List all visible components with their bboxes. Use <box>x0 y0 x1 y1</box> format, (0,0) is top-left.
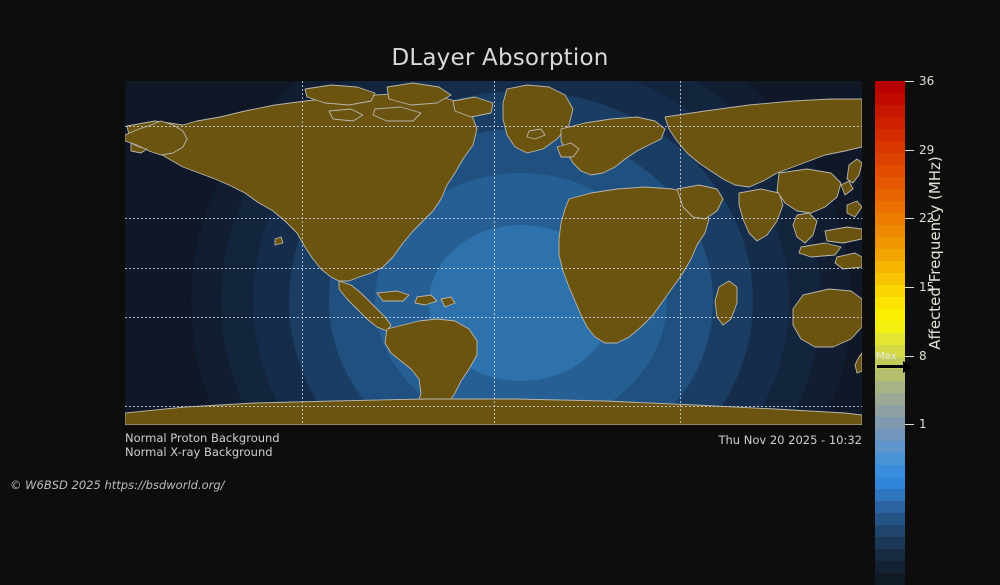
colorbar-band <box>875 225 905 237</box>
colorbar-band <box>875 105 905 117</box>
xray-background-status: Normal X-ray Background <box>125 445 273 459</box>
dlayer-absorption-map-page: DLayer Absorption <box>0 0 1000 500</box>
colorbar-band <box>875 165 905 177</box>
colorbar-band <box>875 525 905 537</box>
colorbar-band <box>875 117 905 129</box>
tick-mark <box>905 356 914 357</box>
colorbar-ticks: 36 29 22 15 8 1 <box>905 81 995 425</box>
gridline-lon-m90 <box>302 81 303 425</box>
colorbar-band <box>875 297 905 309</box>
colorbar-band <box>875 141 905 153</box>
colorbar-band <box>875 453 905 465</box>
colorbar-band <box>875 465 905 477</box>
colorbar-band <box>875 273 905 285</box>
colorbar-band <box>875 201 905 213</box>
copyright-notice: © W6BSD 2025 https://bsdworld.org/ <box>10 478 225 492</box>
colorbar-max-label: Max <box>876 351 897 362</box>
colorbar-band <box>875 501 905 513</box>
colorbar-band <box>875 177 905 189</box>
colorbar-band <box>875 93 905 105</box>
colorbar-band <box>875 321 905 333</box>
colorbar-band <box>875 237 905 249</box>
page-title: DLayer Absorption <box>0 45 1000 71</box>
colorbar-band <box>875 81 905 93</box>
tick-mark <box>905 81 914 82</box>
proton-background-status: Normal Proton Background <box>125 431 280 445</box>
colorbar-band <box>875 441 905 453</box>
timestamp: Thu Nov 20 2025 - 10:32 <box>718 433 862 447</box>
world-map[interactable] <box>125 81 862 425</box>
colorbar-band <box>875 477 905 489</box>
colorbar-band <box>875 417 905 429</box>
colorbar-band <box>875 333 905 345</box>
colorbar-band <box>875 213 905 225</box>
colorbar-band <box>875 249 905 261</box>
colorbar-axis-label: Affected Frequency (MHz) <box>922 81 948 425</box>
colorbar-band <box>875 561 905 573</box>
colorbar-band <box>875 129 905 141</box>
colorbar-band <box>875 285 905 297</box>
tick-mark <box>905 150 914 151</box>
colorbar-band <box>875 189 905 201</box>
tick-mark <box>905 287 914 288</box>
colorbar-band <box>875 429 905 441</box>
map-gridlines <box>125 81 862 425</box>
colorbar-band <box>875 489 905 501</box>
colorbar-band <box>875 381 905 393</box>
tick-mark <box>905 424 914 425</box>
colorbar-band <box>875 549 905 561</box>
gridline-lon-90 <box>680 81 681 425</box>
colorbar-band <box>875 405 905 417</box>
colorbar-band <box>875 153 905 165</box>
colorbar-band <box>875 393 905 405</box>
tick-mark <box>905 218 914 219</box>
max-arrow-shaft <box>877 365 905 368</box>
colorbar-band <box>875 513 905 525</box>
colorbar-band <box>875 261 905 273</box>
colorbar-band <box>875 573 905 585</box>
colorbar-band <box>875 309 905 321</box>
colorbar-band <box>875 537 905 549</box>
gridline-lon-0 <box>494 81 495 425</box>
